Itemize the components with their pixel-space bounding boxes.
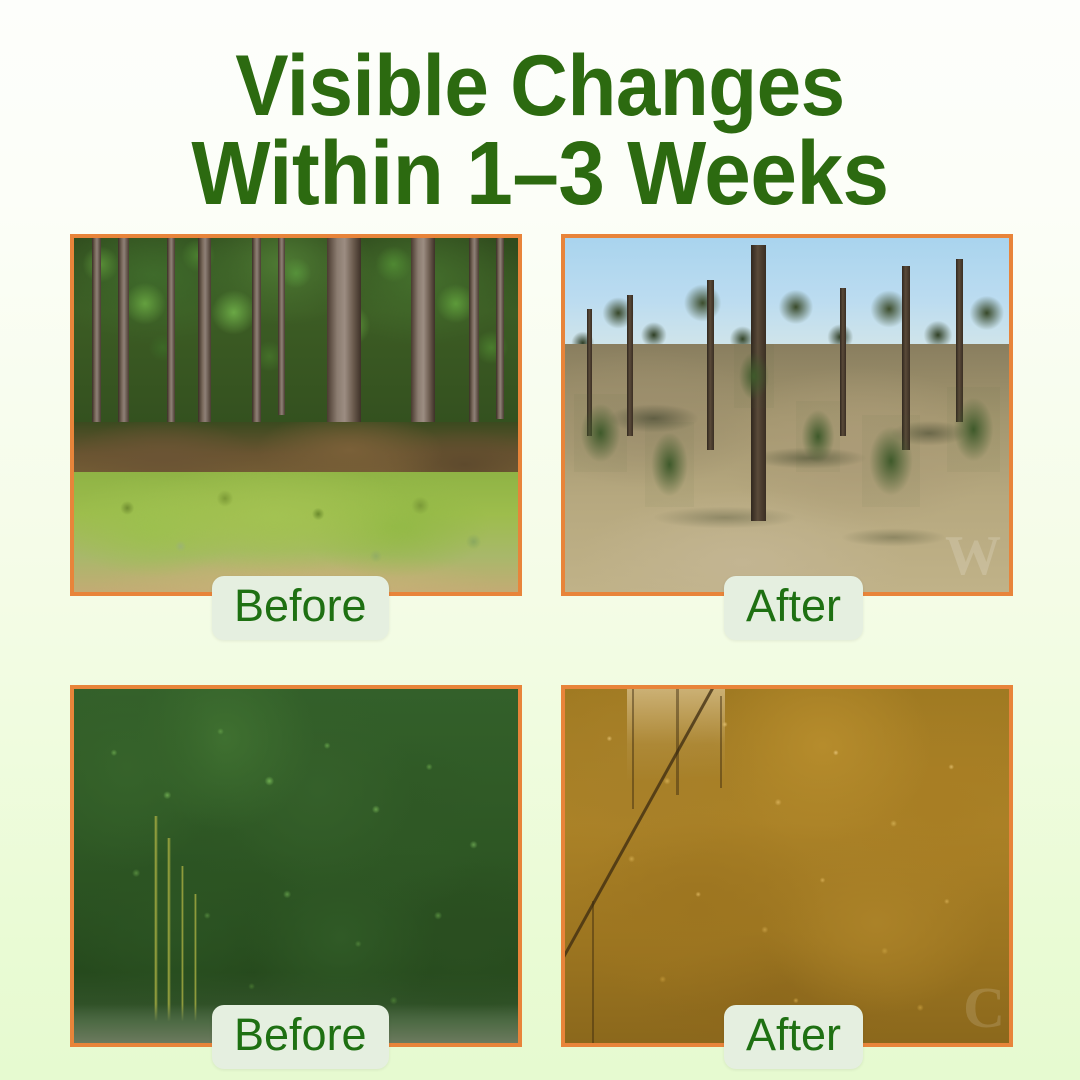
watermark: W <box>945 524 1003 588</box>
comparison-1-after-image: W <box>561 234 1013 596</box>
tree-trunk <box>278 238 285 415</box>
title-line-2: Within 1–3 Weeks <box>38 130 1042 218</box>
bamboo-leaf-highlights <box>74 689 518 1043</box>
title-line-1: Visible Changes <box>38 44 1042 128</box>
dry-stem <box>632 689 634 809</box>
tree-trunk <box>707 280 714 450</box>
shrub <box>734 344 774 408</box>
tree-trunk <box>118 238 129 436</box>
tree-trunk <box>840 288 846 437</box>
tree-trunk <box>198 238 211 433</box>
shrub <box>947 387 1000 472</box>
badge-after-comparison-1: After <box>724 576 863 640</box>
tree-trunk <box>167 238 175 426</box>
shrub <box>862 415 920 507</box>
tree-trunk-large <box>411 238 435 450</box>
tree-trunk <box>469 238 479 426</box>
comparison-2-after-image: C <box>561 685 1013 1047</box>
badge-after-comparison-2: After <box>724 1005 863 1069</box>
photo-green-bamboo-grove <box>74 689 518 1043</box>
shrub <box>574 394 627 472</box>
watermark: C <box>963 974 1005 1041</box>
comparison-2-before-image <box>70 685 522 1047</box>
page-title: Visible Changes Within 1–3 Weeks <box>0 44 1080 218</box>
dry-stem <box>676 689 679 795</box>
poster-canvas: Visible Changes Within 1–3 Weeks Before <box>0 0 1080 1080</box>
tree-trunk <box>252 238 261 422</box>
tree-trunk <box>496 238 504 419</box>
bamboo-culm <box>154 816 158 1028</box>
photo-green-pine-forest <box>74 238 518 592</box>
tree-trunk <box>92 238 101 429</box>
dry-stem <box>720 696 722 788</box>
shrub <box>796 401 840 472</box>
photo-dry-thinned-forest: W <box>565 238 1009 592</box>
badge-before-comparison-2: Before <box>212 1005 389 1069</box>
shrub <box>645 422 694 507</box>
dry-stem <box>592 901 594 1043</box>
tree-trunk <box>627 295 633 437</box>
badge-before-comparison-1: Before <box>212 576 389 640</box>
comparison-1-before-image <box>70 234 522 596</box>
photo-dried-brown-bamboo: C <box>565 689 1009 1043</box>
forest-floor-moss <box>74 472 518 592</box>
